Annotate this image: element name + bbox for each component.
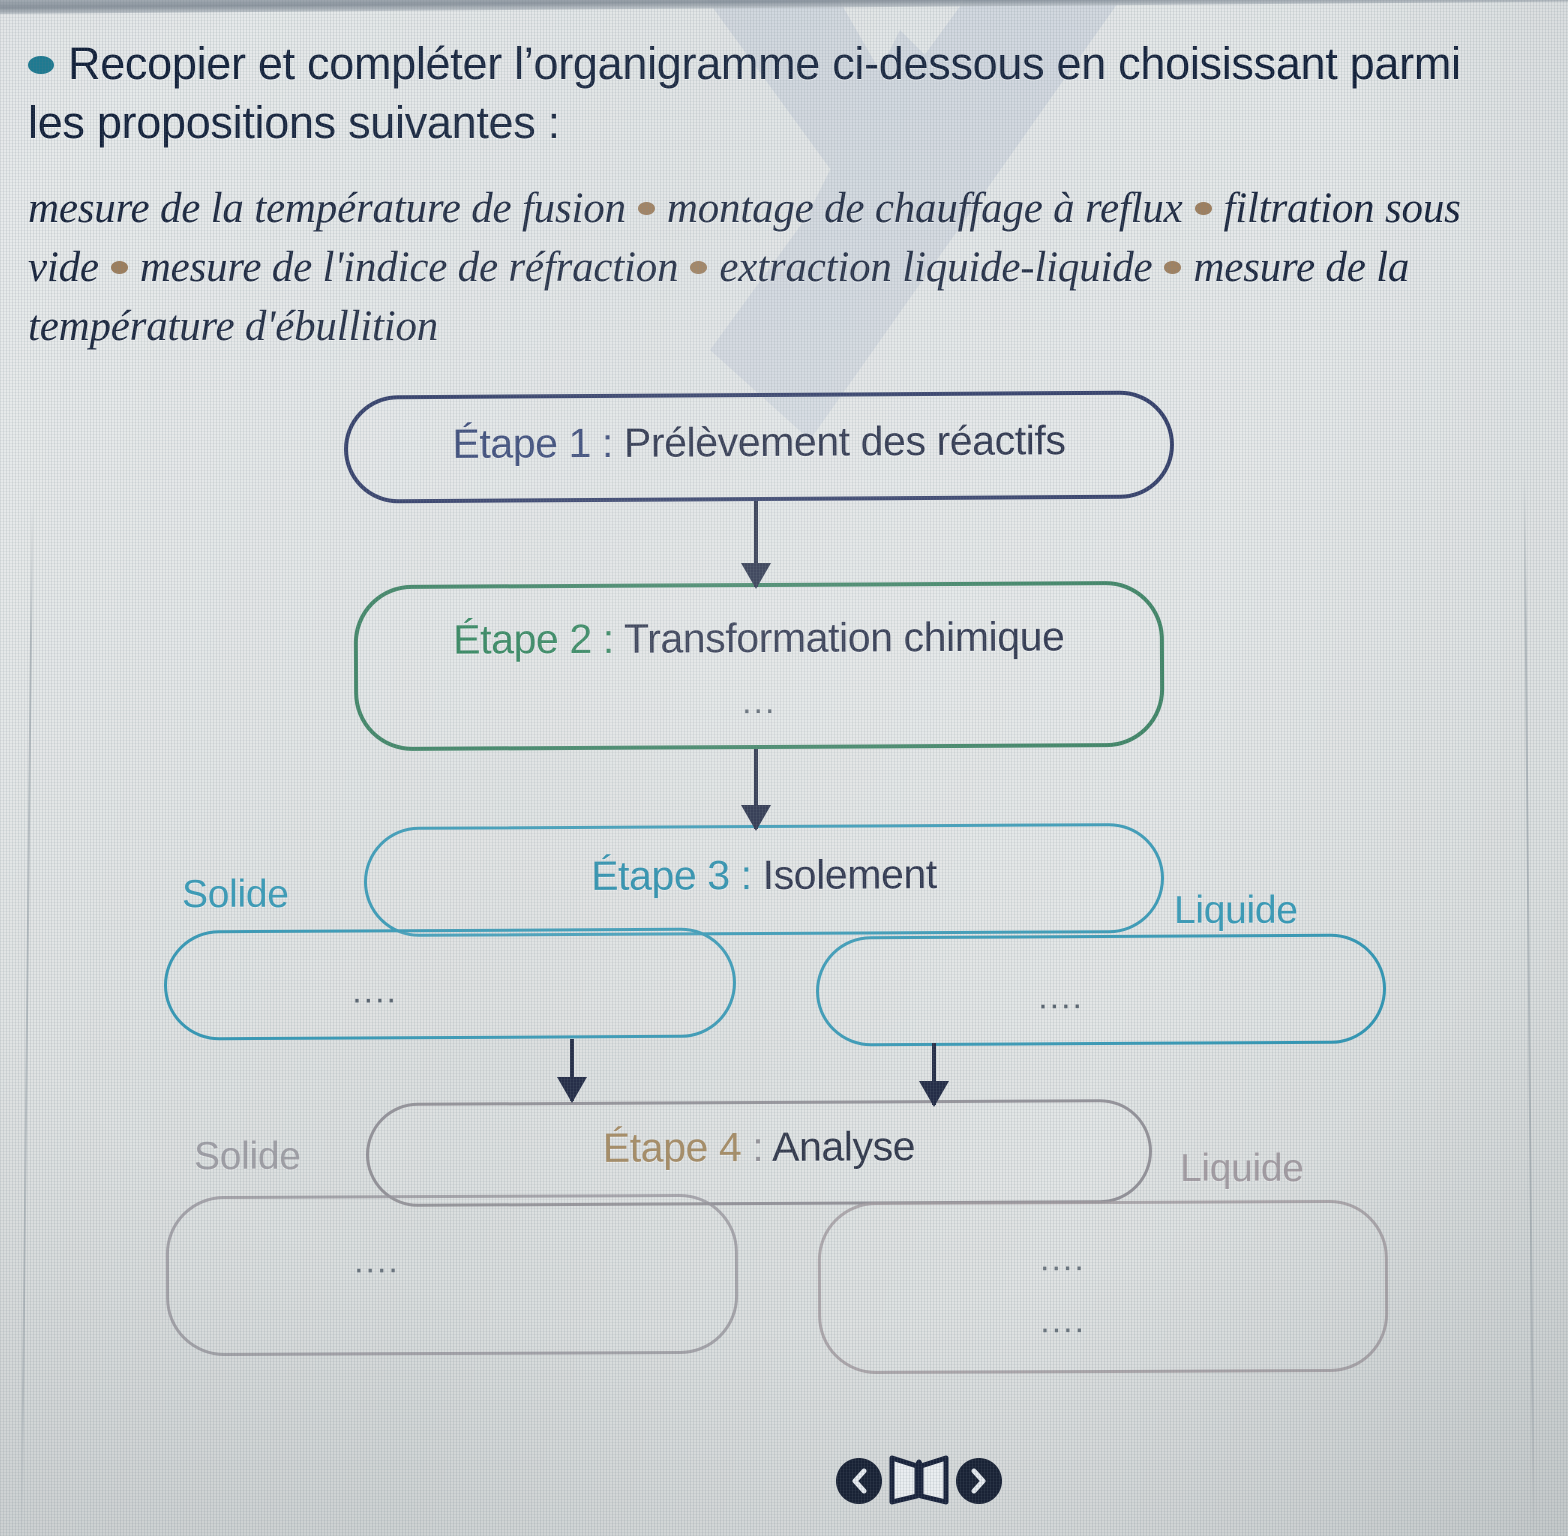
branch-box-isolement-solide-dots: .... — [17, 970, 733, 1013]
proposal-item: extraction liquide-liquide — [719, 244, 1152, 291]
page-navigation[interactable] — [836, 1452, 1002, 1510]
branch-box-isolement-solide[interactable]: .... — [164, 927, 737, 1040]
separator-dot-icon — [690, 261, 707, 274]
branch-box-analyse-solide[interactable]: .... — [166, 1194, 739, 1356]
node-etape-3[interactable]: Étape 3 : Isolement — [364, 823, 1165, 937]
open-book-icon[interactable] — [888, 1452, 950, 1510]
node-etape-4-title: Analyse — [772, 1123, 915, 1170]
node-etape-2[interactable]: Étape 2 : Transformation chimique ... — [354, 581, 1165, 751]
branch-box-analyse-liquide-dots-1: .... — [741, 1239, 1385, 1281]
proposal-list: mesure de la température de fusionmontag… — [28, 179, 1522, 357]
node-etape-3-label: Étape 3 : Isolement — [591, 851, 937, 900]
node-etape-3-number: Étape 3 — [591, 852, 741, 899]
node-etape-1-label: Étape 1 : Prélèvement des réactifs — [452, 417, 1065, 468]
node-etape-3-separator: : — [741, 852, 763, 898]
node-etape-3-title: Isolement — [763, 851, 937, 898]
organigramme: Étape 1 : Prélèvement des réactifs Étape… — [28, 383, 1522, 1423]
photographed-screen: Recopier et compléter l’organigramme ci-… — [0, 0, 1568, 1536]
node-etape-4-separator: : — [752, 1124, 772, 1170]
node-etape-4-number: Étape 4 — [603, 1124, 753, 1171]
branch-box-isolement-liquide-dots: .... — [739, 976, 1383, 1018]
node-etape-2-label: Étape 2 : Transformation chimique — [453, 613, 1064, 663]
arrow-etape2-to-etape3 — [754, 749, 758, 829]
proposal-item: montage de chauffage à reflux — [667, 185, 1183, 232]
node-etape-1[interactable]: Étape 1 : Prélèvement des réactifs — [344, 390, 1175, 503]
branch-label-isolement-solide: Solide — [182, 873, 289, 917]
arrow-liquide-to-etape4 — [932, 1043, 936, 1105]
proposal-item: mesure de l'indice de réfraction — [140, 244, 679, 291]
branch-box-analyse-liquide-dots-2: .... — [741, 1301, 1385, 1343]
proposal-item: mesure de la température de fusion — [28, 185, 626, 232]
node-etape-4-label: Étape 4 : Analyse — [603, 1123, 916, 1172]
chevron-left-circle-icon[interactable] — [836, 1458, 882, 1504]
chevron-right-circle-icon[interactable] — [956, 1458, 1002, 1504]
node-etape-1-number: Étape 1 — [452, 420, 602, 467]
node-etape-1-separator: : — [602, 420, 624, 466]
bullet-dot-icon — [28, 56, 54, 74]
branch-box-isolement-liquide[interactable]: .... — [816, 933, 1387, 1046]
arrow-solide-to-etape4 — [570, 1039, 574, 1101]
separator-dot-icon — [1164, 261, 1181, 274]
node-etape-4[interactable]: Étape 4 : Analyse — [366, 1099, 1153, 1207]
node-etape-2-title: Transformation chimique — [624, 613, 1065, 661]
instruction-text: Recopier et compléter l’organigramme ci-… — [28, 38, 1461, 148]
branch-label-isolement-liquide: Liquide — [1174, 889, 1298, 933]
arrow-etape1-to-etape2 — [754, 501, 758, 587]
instruction-paragraph: Recopier et compléter l’organigramme ci-… — [28, 34, 1522, 153]
separator-dot-icon — [111, 261, 128, 274]
separator-dot-icon — [1195, 202, 1212, 215]
branch-label-analyse-liquide: Liquide — [1180, 1147, 1304, 1191]
separator-dot-icon — [638, 202, 655, 215]
node-etape-2-dots: ... — [358, 681, 1160, 724]
node-etape-2-number: Étape 2 — [453, 616, 603, 663]
branch-box-analyse-liquide[interactable]: .... .... — [818, 1200, 1389, 1374]
node-etape-2-separator: : — [603, 615, 624, 661]
branch-box-analyse-solide-dots: .... — [19, 1241, 735, 1283]
branch-label-analyse-solide: Solide — [194, 1135, 301, 1179]
node-etape-1-title: Prélèvement des réactifs — [624, 417, 1066, 466]
